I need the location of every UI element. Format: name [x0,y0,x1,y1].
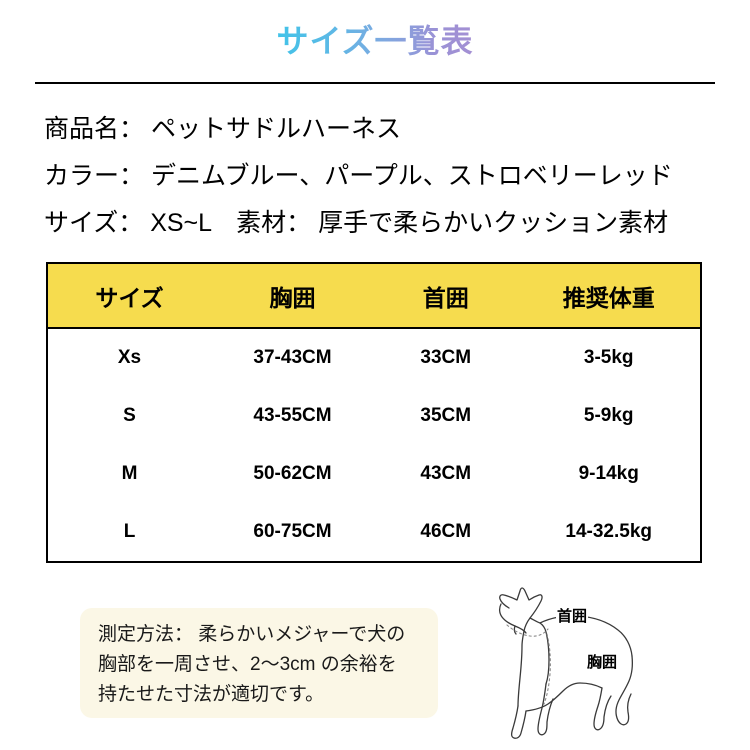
dog-measurement-illustration: 首囲 胸囲 [468,578,750,750]
cell-size: Xs [48,328,211,387]
table-row: L 60-75CM 46CM 14-32.5kg [48,503,700,561]
cell-weight: 5-9kg [517,387,700,445]
column-header-size: サイズ [48,264,211,328]
note-line-1: 測定方法： 柔らかいメジャーで犬の [98,620,424,650]
cell-size: M [48,445,211,503]
column-header-neck: 首囲 [374,264,517,328]
cell-chest: 60-75CM [211,503,374,561]
page-title: サイズ一覧表 [276,24,473,59]
note-line-2: 胸部を一周させ、2～3cm の余裕を [98,650,424,680]
table-row: S 43-55CM 35CM 5-9kg [48,387,700,445]
cell-weight: 14-32.5kg [517,503,700,561]
cell-weight: 3-5kg [517,328,700,387]
cell-weight: 9-14kg [517,445,700,503]
column-header-weight: 推奨体重 [517,264,700,328]
product-info-line-size-material: サイズ： XS~L 素材： 厚手で柔らかいクッション素材 [44,200,714,247]
neck-measure-line [507,625,548,636]
cell-neck: 35CM [374,387,517,445]
size-chart-table: サイズ 胸囲 首囲 推奨体重 Xs 37-43CM 33CM 3-5kg S 4… [46,262,702,563]
cell-chest: 50-62CM [211,445,374,503]
table-row: Xs 37-43CM 33CM 3-5kg [48,328,700,387]
table-header-row: サイズ 胸囲 首囲 推奨体重 [48,264,700,328]
cell-chest: 37-43CM [211,328,374,387]
measurement-note-box: 測定方法： 柔らかいメジャーで犬の 胸部を一周させ、2～3cm の余裕を 持たせ… [80,608,438,718]
column-header-chest: 胸囲 [211,264,374,328]
cell-chest: 43-55CM [211,387,374,445]
label-chest-circumference: 胸囲 [586,654,618,671]
product-info: 商品名： ペットサドルハーネス カラー： デニムブルー、パープル、ストロベリーレ… [44,106,714,247]
note-line-3: 持たせた寸法が適切です。 [98,680,424,710]
label-neck-circumference: 首囲 [556,608,588,625]
product-info-line-color: カラー： デニムブルー、パープル、ストロベリーレッド [44,153,714,200]
cell-neck: 33CM [374,328,517,387]
header-divider [35,82,715,84]
page-title-container: サイズ一覧表 [0,24,750,59]
cell-size: L [48,503,211,561]
cell-neck: 43CM [374,445,517,503]
cell-size: S [48,387,211,445]
cell-neck: 46CM [374,503,517,561]
product-info-line-name: 商品名： ペットサドルハーネス [44,106,714,153]
table-row: M 50-62CM 43CM 9-14kg [48,445,700,503]
